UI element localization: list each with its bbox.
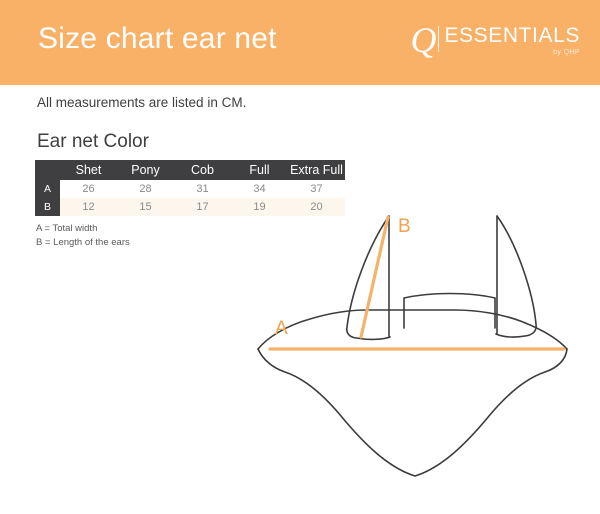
page-title: Size chart ear net <box>38 22 277 56</box>
measurement-legend: A = Total width B = Length of the ears <box>36 222 130 250</box>
size-table-head: Shet Pony Cob Full Extra Full <box>35 160 345 180</box>
page-header: Size chart ear net Q ESSENTIALS by QHP <box>0 0 600 85</box>
cell-a-full: 34 <box>231 180 288 198</box>
legend-item-a: A = Total width <box>36 222 130 236</box>
column-header-pony: Pony <box>117 160 174 180</box>
ear-net-diagram: A B <box>255 200 585 500</box>
logo-wordmark: ESSENTIALS <box>444 24 580 48</box>
diagram-label-b: B <box>398 216 411 237</box>
logo-subtitle: by QHP <box>553 49 580 56</box>
cell-b-pony: 15 <box>117 198 174 216</box>
brand-logo: Q ESSENTIALS by QHP <box>410 24 580 64</box>
column-header-extra-full: Extra Full <box>288 160 345 180</box>
row-label-a: A <box>35 180 60 198</box>
diagram-label-a: A <box>275 318 288 339</box>
section-heading: Ear net Color <box>37 131 149 153</box>
logo-divider-icon <box>438 26 439 52</box>
cell-b-cob: 17 <box>174 198 231 216</box>
table-corner-cell <box>35 160 60 180</box>
cell-a-cob: 31 <box>174 180 231 198</box>
net-body-outline <box>258 349 567 476</box>
ear-net-illustration: A B <box>255 200 585 500</box>
legend-item-b: B = Length of the ears <box>36 236 130 250</box>
ear-connector-band <box>404 294 495 299</box>
logo-text-group: ESSENTIALS by QHP <box>444 24 580 56</box>
cell-b-shet: 12 <box>60 198 117 216</box>
measurement-units-note: All measurements are listed in CM. <box>37 95 246 110</box>
cell-a-extra-full: 37 <box>288 180 345 198</box>
logo-q-mark: Q <box>410 24 436 56</box>
cell-a-pony: 28 <box>117 180 174 198</box>
row-label-b: B <box>35 198 60 216</box>
column-header-cob: Cob <box>174 160 231 180</box>
column-header-shet: Shet <box>60 160 117 180</box>
table-header-row: Shet Pony Cob Full Extra Full <box>35 160 345 180</box>
measurement-line-b <box>361 217 388 337</box>
cell-a-shet: 26 <box>60 180 117 198</box>
table-row: A 26 28 31 34 37 <box>35 180 345 198</box>
size-chart-page: Size chart ear net Q ESSENTIALS by QHP A… <box>0 0 600 514</box>
net-top-edge <box>258 310 567 349</box>
column-header-full: Full <box>231 160 288 180</box>
